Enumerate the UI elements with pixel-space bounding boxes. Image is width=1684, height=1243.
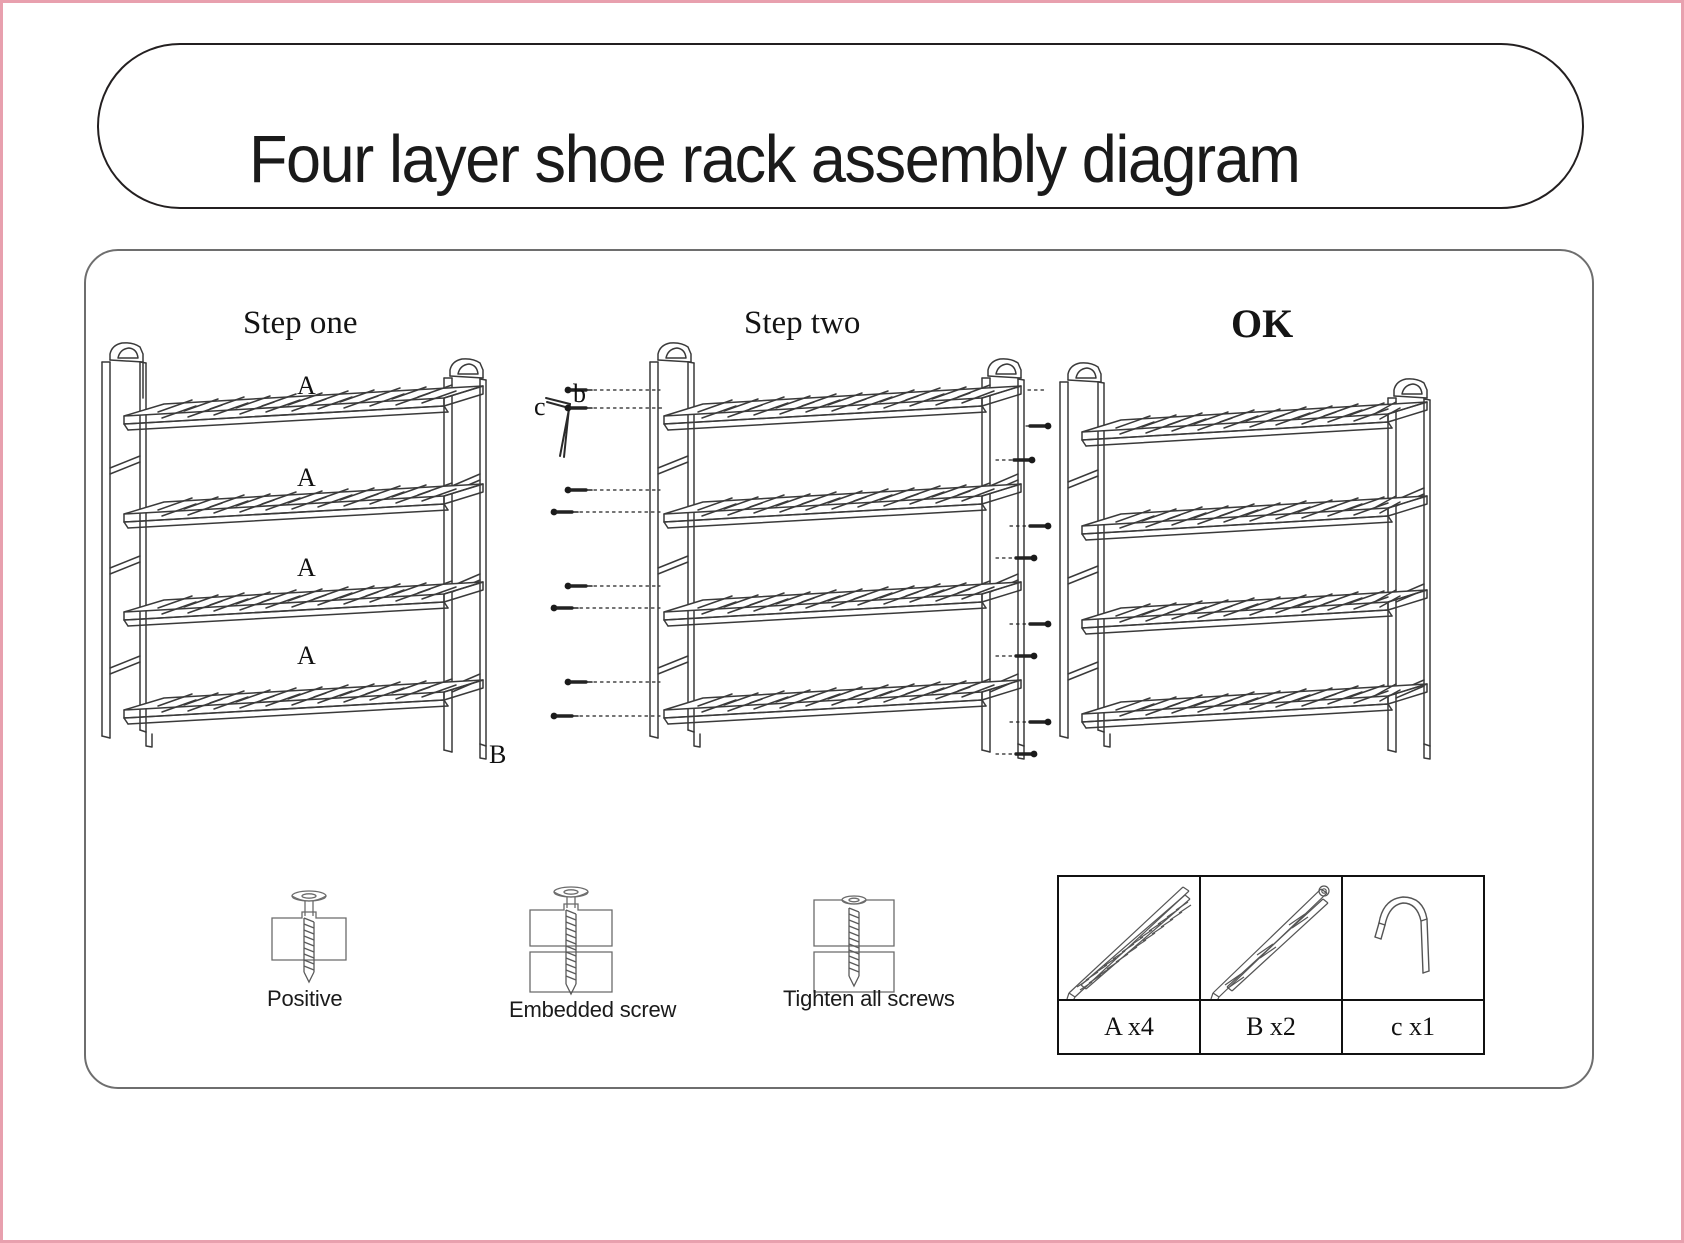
part-label-a: A x4 [1059, 1001, 1199, 1053]
caption-positive: Positive [267, 986, 342, 1012]
side-frame-label-b: B [489, 740, 506, 770]
parts-table-labels-row: A x4 B x2 c x1 [1059, 999, 1483, 1053]
part-cell-hex-key [1341, 877, 1483, 999]
caption-tighten-all-screws: Tighten all screws [783, 986, 955, 1012]
parts-table-images-row [1059, 877, 1483, 999]
screw-label-b: b [573, 379, 586, 409]
page-title: Four layer shoe rack assembly diagram [249, 121, 1299, 198]
tool-label-c: c [534, 392, 546, 422]
part-label-b: B x2 [1199, 1001, 1341, 1053]
title-capsule: Four layer shoe rack assembly diagram [97, 43, 1584, 209]
rack-diagram-step-two [540, 338, 1060, 778]
part-label-c: c x1 [1341, 1001, 1483, 1053]
shelf-label-a-1: A [297, 371, 316, 401]
screw-step-embedded-icon [516, 884, 646, 1014]
side-frame-icon [1201, 877, 1341, 999]
rack-diagram-completed [1046, 358, 1466, 778]
caption-embedded-screw: Embedded screw [509, 997, 676, 1023]
parts-table: A x4 B x2 c x1 [1057, 875, 1485, 1055]
shelf-label-a-2: A [297, 463, 316, 493]
ok-label: OK [1231, 300, 1293, 347]
part-cell-side-frame [1199, 877, 1341, 999]
step-two-label: Step two [744, 305, 860, 342]
shelf-label-a-4: A [297, 641, 316, 671]
part-cell-shelf [1059, 877, 1199, 999]
screw-step-positive-icon [258, 884, 368, 994]
shelf-ladder-icon [1059, 877, 1199, 999]
shelf-label-a-3: A [297, 553, 316, 583]
step-one-label: Step one [243, 305, 358, 342]
hex-key-icon [1353, 877, 1473, 999]
